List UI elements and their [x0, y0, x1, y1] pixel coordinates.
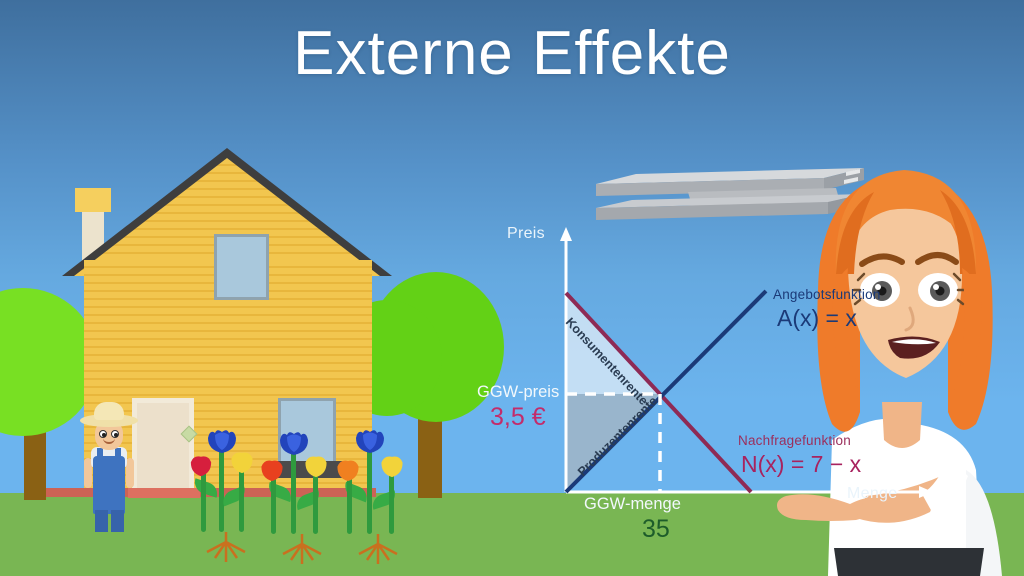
- farmer-character: [80, 400, 138, 530]
- flower-leaf: [266, 482, 295, 502]
- demand-function-equation: N(x) = 7 − x: [741, 451, 861, 478]
- flower-root: [203, 532, 249, 566]
- flower-root: [355, 534, 401, 568]
- supply-function-equation: A(x) = x: [777, 305, 857, 332]
- x-axis-arrow: [919, 486, 933, 498]
- tulip-orange: [333, 458, 363, 483]
- house-door: [132, 398, 194, 496]
- flower-stem: [291, 448, 296, 534]
- farmer-eye-left: [99, 430, 107, 438]
- farmer-eye-right: [111, 430, 119, 438]
- farmer-arm-right: [126, 458, 134, 488]
- tulip-blue: [277, 430, 311, 456]
- tulip-orange: [257, 458, 287, 483]
- window-upper: [214, 234, 269, 300]
- slide-canvas: Externe Effekte: [0, 0, 1024, 576]
- tulip-yellow: [301, 454, 331, 479]
- door-step: [128, 488, 200, 498]
- y-axis-arrow: [560, 227, 572, 241]
- farmer-overalls: [93, 456, 125, 514]
- x-axis-label: Menge: [847, 485, 897, 503]
- page-title: Externe Effekte: [0, 18, 1024, 89]
- tulip-red: [187, 454, 215, 478]
- flower-stem: [367, 446, 372, 534]
- flower-stem: [219, 446, 224, 532]
- equilibrium-quantity-value: 35: [642, 515, 670, 544]
- tulip-blue: [353, 428, 387, 454]
- equilibrium-quantity-label: GGW-menge: [584, 495, 681, 514]
- demand-function-label: Nachfragefunktion: [738, 433, 851, 448]
- farmer-hat-crown: [94, 402, 124, 420]
- tulip-yellow: [377, 454, 407, 479]
- farmer-leg-right: [111, 510, 124, 532]
- supply-demand-chart: Preis Menge Angebotsfunktion A(x) = x Na…: [455, 215, 935, 535]
- supply-function-label: Angebotsfunktion: [773, 287, 881, 302]
- equilibrium-price-label: GGW-preis: [477, 383, 559, 402]
- tulip-yellow: [227, 450, 257, 475]
- flower-root: [279, 534, 325, 568]
- flower-leaf: [342, 482, 371, 503]
- tulip-bed: [195, 420, 455, 570]
- equilibrium-price-value: 3,5 €: [490, 403, 546, 432]
- y-axis-label: Preis: [507, 225, 545, 243]
- farmer-leg-left: [95, 510, 108, 532]
- flower-leaf: [192, 478, 220, 497]
